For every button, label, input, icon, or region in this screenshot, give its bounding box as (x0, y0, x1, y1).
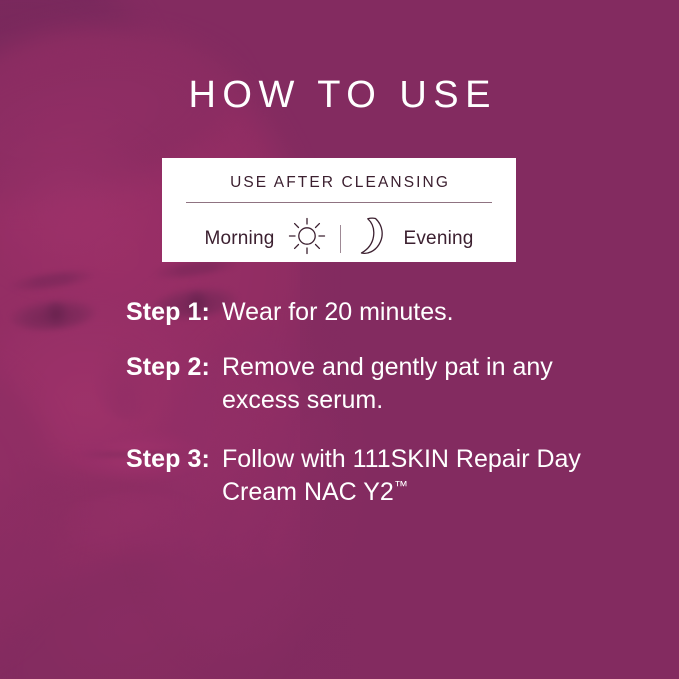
trademark-symbol: ™ (394, 478, 408, 494)
step-item-1: Step 1: Wear for 20 minutes. (0, 296, 679, 329)
step-3-text-main: Follow with 111SKIN Repair Day Cream NAC… (222, 445, 581, 506)
step-3-text: Follow with 111SKIN Repair Day Cream NAC… (210, 443, 610, 509)
moon-icon (355, 216, 389, 261)
step-2-text: Remove and gently pat in any excess seru… (210, 351, 610, 417)
how-to-use-panel: HOW TO USE USE AFTER CLEANSING Morning (0, 0, 679, 679)
step-1-text: Wear for 20 minutes. (210, 296, 454, 329)
step-3-label: Step 3: (0, 443, 210, 476)
step-2-label: Step 2: (0, 351, 210, 384)
use-after-cleansing-card: USE AFTER CLEANSING Morning (162, 158, 516, 262)
morning-label: Morning (204, 228, 274, 250)
use-card-title: USE AFTER CLEANSING (162, 174, 516, 192)
step-item-3: Step 3: Follow with 111SKIN Repair Day C… (0, 443, 679, 509)
steps-list: Step 1: Wear for 20 minutes. Step 2: Rem… (0, 296, 679, 509)
step-item-2: Step 2: Remove and gently pat in any exc… (0, 351, 679, 417)
step-1-label: Step 1: (0, 296, 210, 329)
evening-label: Evening (403, 228, 473, 250)
time-of-day-row: Morning (162, 216, 516, 261)
page-title: HOW TO USE (0, 76, 679, 114)
time-of-day-divider (340, 225, 341, 253)
sun-icon (288, 217, 326, 260)
card-divider-rule (186, 202, 492, 203)
